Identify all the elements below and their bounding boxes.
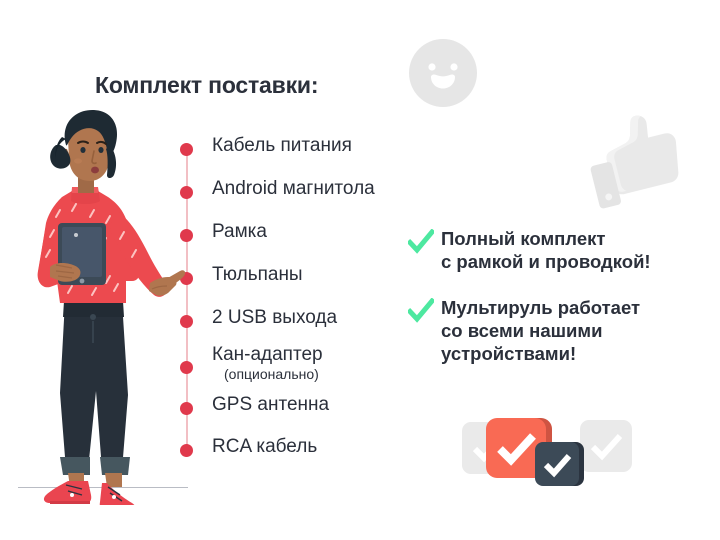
sneaker-sole-left — [50, 501, 90, 504]
promo-image-canvas: Комплект поставки: Кабель питания Androi… — [0, 0, 720, 540]
mouth — [91, 167, 99, 174]
sneaker-left — [44, 481, 91, 503]
smiley-face-icon — [407, 37, 479, 109]
sneaker-detail-right — [112, 495, 116, 499]
list-item: RCA кабель — [180, 437, 317, 458]
list-item-label: Кабель питания — [212, 136, 352, 157]
jeans-button — [90, 314, 96, 320]
green-checkmark-icon — [408, 229, 434, 255]
white-checkmark-icon — [535, 442, 579, 486]
sneaker-detail-left — [70, 493, 74, 497]
checkbox-tiles-decoration — [462, 398, 632, 490]
list-item: Тюльпаны — [180, 265, 303, 286]
list-item: Кабель питания — [180, 136, 352, 157]
jeans — [60, 301, 128, 470]
list-item-label: 2 USB выхода — [212, 308, 337, 329]
white-checkmark-icon — [580, 420, 632, 472]
list-item: Кан-адаптер (опционально) — [180, 345, 323, 382]
cheek — [74, 158, 82, 163]
benefit-line-2: со всеми нашими — [441, 320, 640, 343]
eye-left — [80, 147, 85, 153]
list-item: GPS антенна — [180, 395, 329, 416]
avito-watermark: Avito — [620, 499, 708, 525]
benefit-item-full-kit: Полный комплект с рамкой и проводкой! — [408, 228, 651, 274]
benefit-line-3: устройствами! — [441, 343, 640, 366]
checkbox-tile-gray-right — [580, 420, 632, 472]
list-item-label: GPS антенна — [212, 395, 329, 416]
list-item: Android магнитола — [180, 179, 375, 200]
checkbox-tile-navy — [535, 442, 579, 486]
tablet-glare — [74, 233, 78, 237]
list-item: Рамка — [180, 222, 267, 243]
list-item-label: Тюльпаны — [212, 265, 303, 286]
package-contents-list: Кабель питания Android магнитола Рамка Т… — [180, 130, 420, 460]
eye-right — [98, 147, 103, 153]
tablet-home-button — [80, 279, 85, 284]
green-checkmark-icon — [408, 298, 434, 324]
thumbs-up-icon — [578, 112, 688, 212]
list-item-label: Android магнитола — [212, 179, 375, 200]
benefit-line-1: Мультируль работает — [441, 297, 640, 320]
benefit-item-steering-controls: Мультируль работает со всеми нашими устр… — [415, 297, 640, 366]
benefit-line-1: Полный комплект — [441, 228, 651, 251]
list-item-label-main: Кан-адаптер — [212, 344, 323, 365]
page-title: Комплект поставки: — [95, 72, 318, 99]
list-item-sublabel: (опционально) — [224, 367, 323, 382]
jeans-cuff-left — [60, 457, 90, 475]
list-item-label: Рамка — [212, 222, 267, 243]
list-item-label: RCA кабель — [212, 437, 317, 458]
hair-bun — [50, 145, 70, 169]
list-item: 2 USB выхода — [180, 308, 337, 329]
benefit-text: Мультируль работает со всеми нашими устр… — [441, 297, 640, 366]
avito-watermark-label: Avito — [646, 503, 690, 523]
jeans-cuff-right — [100, 457, 130, 475]
woman-pointing-illustration — [10, 105, 190, 505]
benefit-text: Полный комплект с рамкой и проводкой! — [441, 228, 651, 274]
benefit-line-2: с рамкой и проводкой! — [441, 251, 651, 274]
list-item-label: Кан-адаптер (опционально) — [212, 345, 323, 382]
